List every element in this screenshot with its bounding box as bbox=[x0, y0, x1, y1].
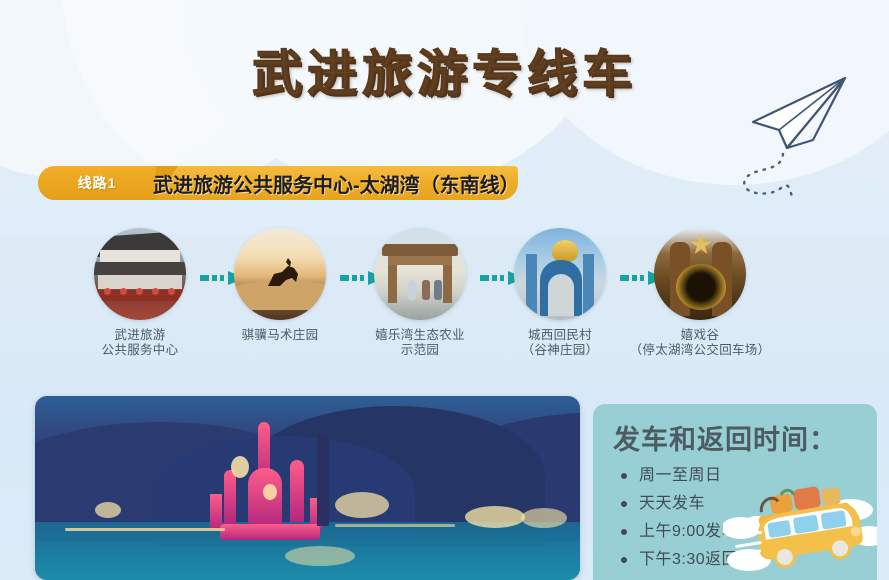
station-photo bbox=[234, 228, 326, 320]
list-item: 天天发车 bbox=[617, 494, 738, 513]
station-label: 嬉戏谷 （停太湖湾公交回车场） bbox=[620, 328, 780, 358]
station-photo bbox=[374, 228, 466, 320]
station-chain: 武进旅游 公共服务中心 骐骥马术庄园 bbox=[0, 228, 889, 380]
station-item[interactable]: 嬉戏谷 （停太湖湾公交回车场） bbox=[620, 228, 780, 358]
schedule-list: 周一至周日 天天发车 上午9:00发车 下午3:30返回 bbox=[617, 466, 738, 578]
station-item[interactable]: 嬉乐湾生态农业 示范园 bbox=[340, 228, 500, 358]
schedule-heading: 发车和返回时间： bbox=[613, 418, 837, 457]
tourism-bus-poster: 武进旅游专线车 线路1 武进旅游公共服务中心-太湖湾（东南线） 武进旅游 公共服… bbox=[0, 0, 889, 580]
paper-plane-icon bbox=[735, 70, 855, 200]
feature-photo bbox=[35, 396, 580, 580]
station-label: 骐骥马术庄园 bbox=[200, 328, 360, 343]
station-item[interactable]: 城西回民村 （谷神庄园） bbox=[480, 228, 640, 358]
station-label: 城西回民村 （谷神庄园） bbox=[480, 328, 640, 358]
route-title: 武进旅游公共服务中心-太湖湾（东南线） bbox=[153, 166, 623, 200]
schedule-panel: 发车和返回时间： 周一至周日 天天发车 上午9:00发车 下午3:30返回 bbox=[593, 404, 877, 580]
list-item: 上午9:00发车 bbox=[617, 522, 738, 541]
list-item: 下午3:30返回 bbox=[617, 550, 738, 569]
station-label: 武进旅游 公共服务中心 bbox=[60, 328, 220, 358]
station-photo bbox=[94, 228, 186, 320]
yellow-van-with-luggage-icon bbox=[723, 484, 877, 580]
list-item: 周一至周日 bbox=[617, 466, 738, 485]
station-photo bbox=[654, 228, 746, 320]
station-photo bbox=[514, 228, 606, 320]
route-number-label: 线路1 bbox=[38, 166, 156, 200]
station-label: 嬉乐湾生态农业 示范园 bbox=[340, 328, 500, 358]
station-item[interactable]: 武进旅游 公共服务中心 bbox=[60, 228, 220, 358]
station-item[interactable]: 骐骥马术庄园 bbox=[200, 228, 360, 343]
